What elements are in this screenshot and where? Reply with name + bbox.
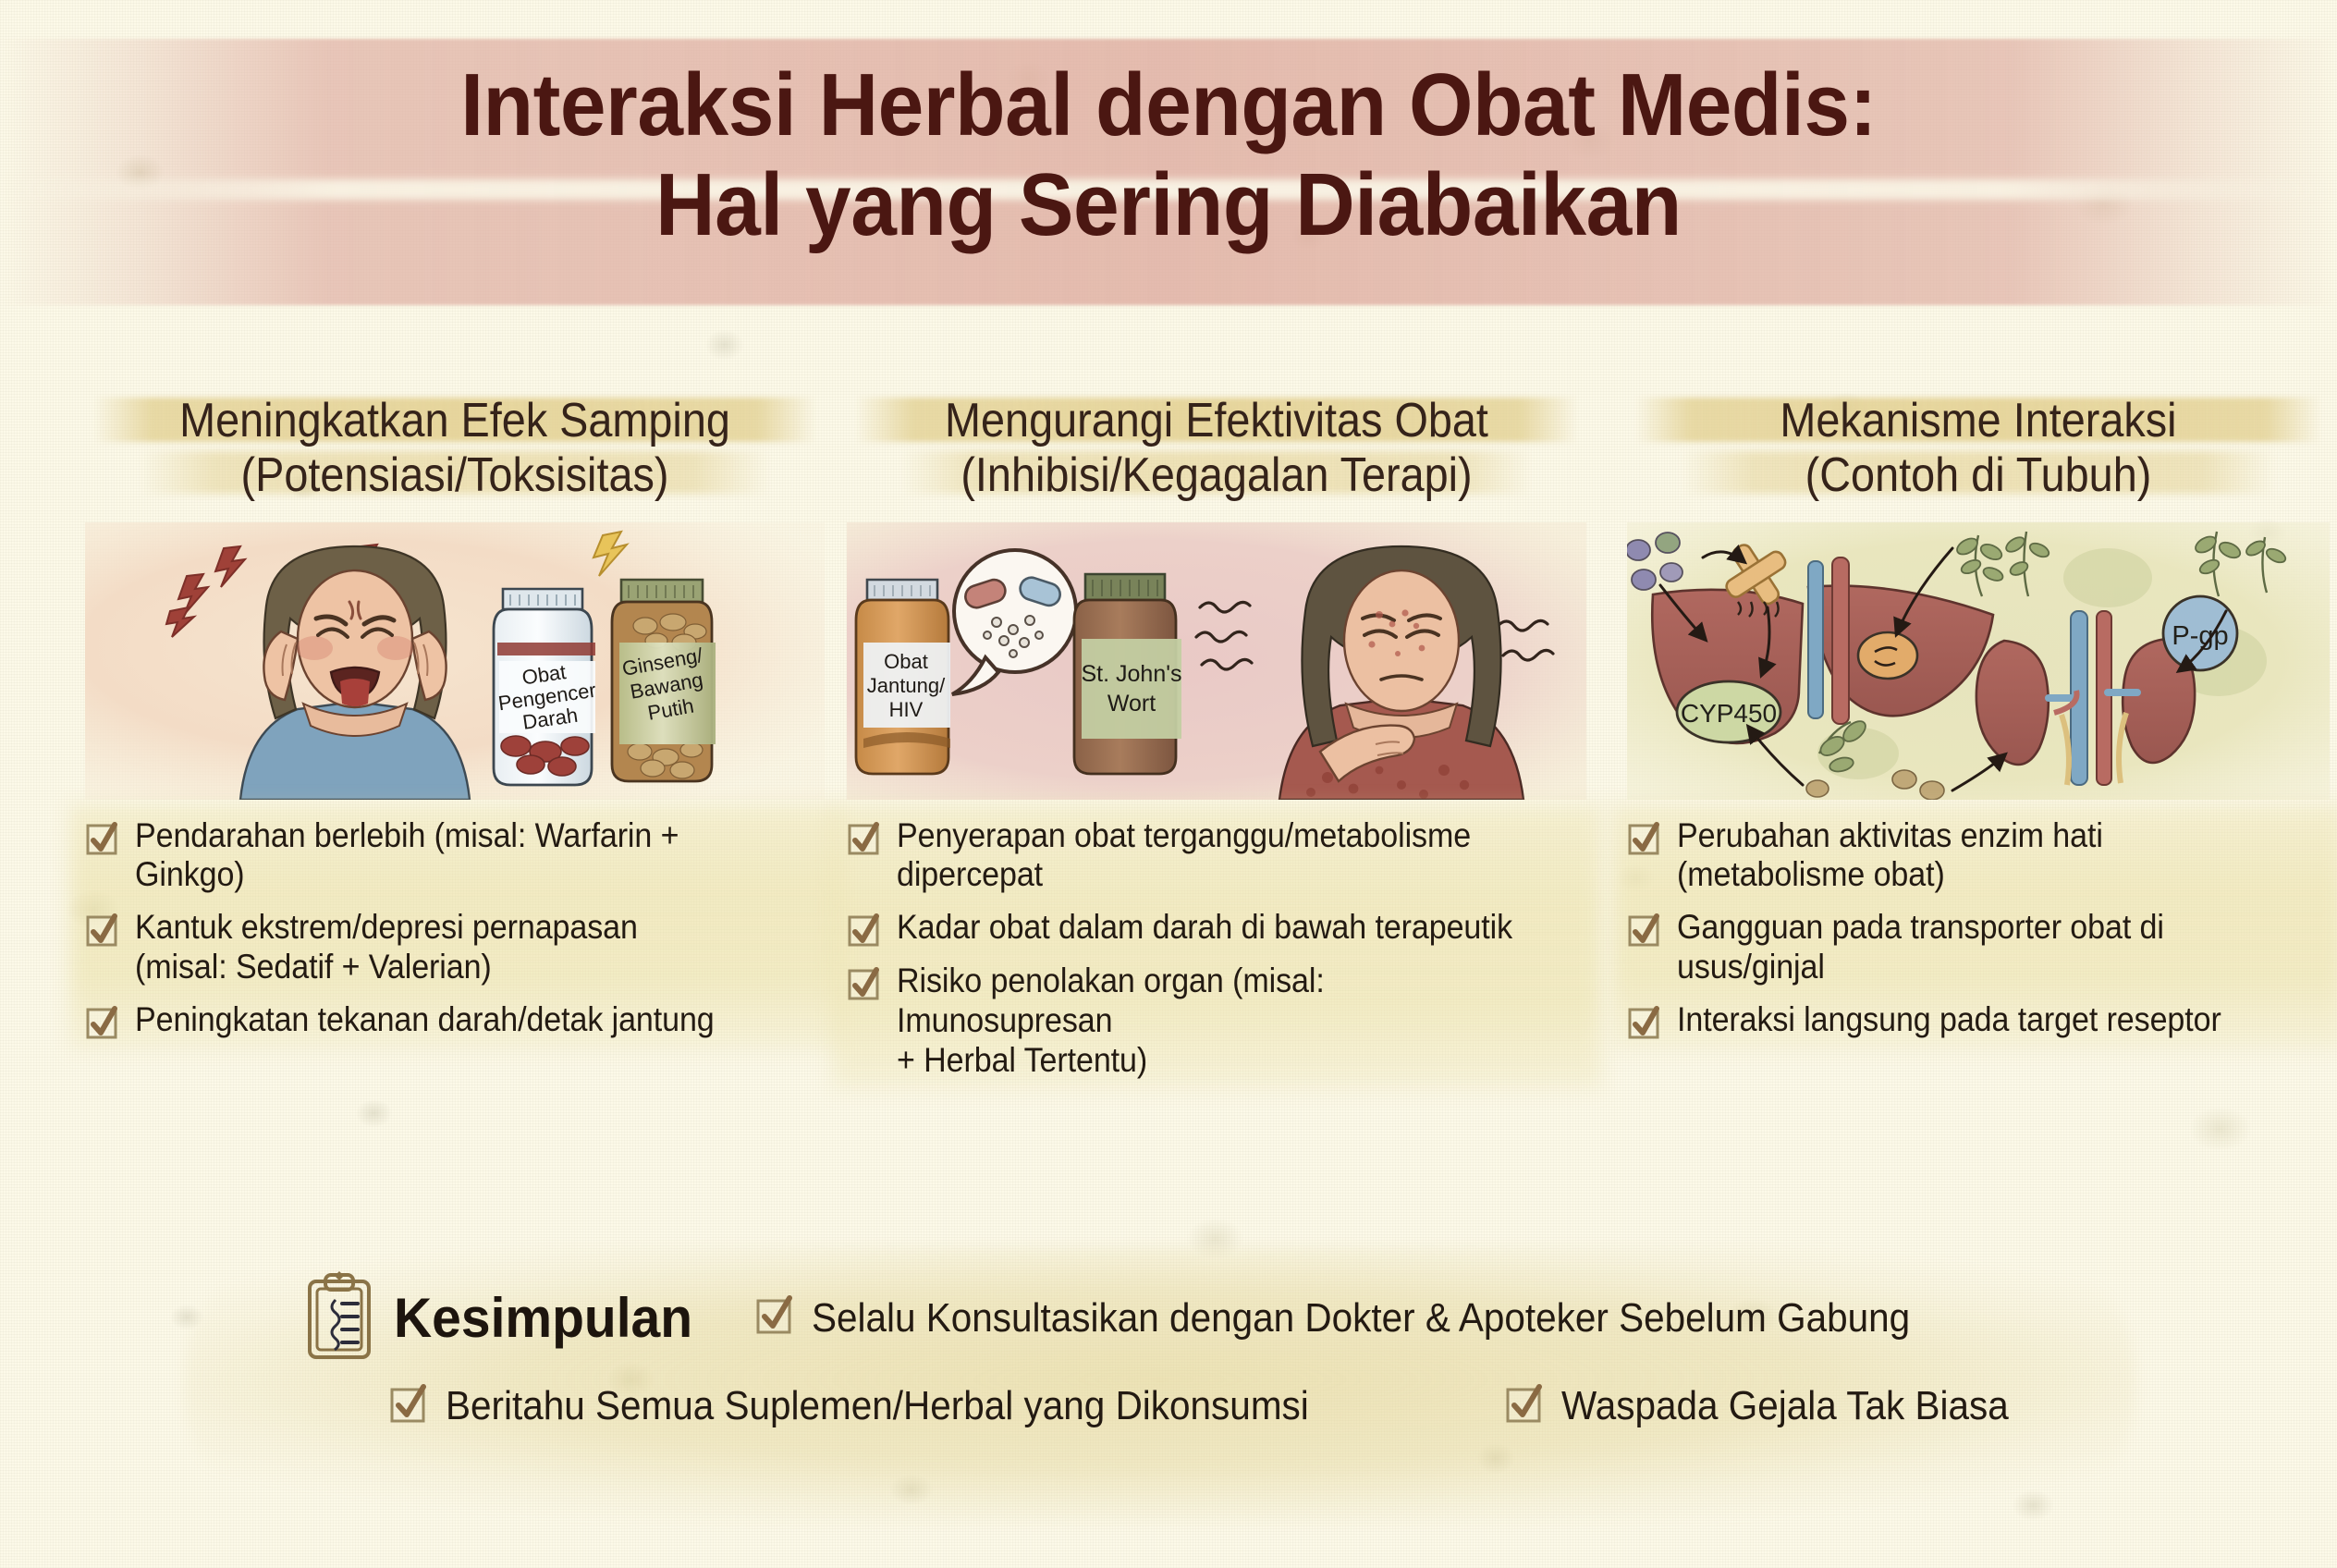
list-item: Interaksi langsung pada target reseptor (1627, 1000, 2330, 1041)
column-mechanisms: Mekanisme Interaksi (Contoh di Tubuh) (1627, 388, 2330, 1054)
conclusion-item-text: Selalu Konsultasikan dengan Dokter & Apo… (812, 1295, 1910, 1341)
checkbox-checked-icon (847, 913, 882, 949)
column-2-heading-line-1: Mengurangi Efektivitas Obat (892, 394, 1541, 448)
list-item: Kadar obat dalam darah di bawah terapeut… (847, 908, 1586, 949)
list-item-text: Penyerapan obat terganggu/metabolisme di… (897, 816, 1471, 896)
bottle3-label-line1: Obat (884, 650, 928, 673)
infographic-poster: Interaksi Herbal dengan Obat Medis: Hal … (0, 0, 2337, 1568)
checkbox-checked-icon (85, 913, 120, 949)
column-3-heading: Mekanisme Interaksi (Contoh di Tubuh) (1627, 388, 2330, 513)
title-line-2: Hal yang Sering Diabaikan (81, 155, 2255, 255)
checkbox-checked-icon (85, 1006, 120, 1041)
bottle3-label-line3: HIV (889, 698, 924, 721)
checkbox-checked-icon (85, 822, 120, 857)
checkbox-checked-icon (1627, 1006, 1662, 1041)
list-item-text: Kadar obat dalam darah di bawah terapeut… (897, 908, 1512, 948)
page-title: Interaksi Herbal dengan Obat Medis: Hal … (0, 55, 2337, 254)
conclusion-section: Kesimpulan Selalu Konsultasikan dengan D… (0, 1246, 2337, 1542)
cyp450-badge-label: CYP450 (1681, 699, 1777, 728)
bottle4-label-line1: St. John's (1082, 661, 1182, 687)
pgp-badge-label: P-gp (2172, 621, 2228, 651)
column-1-heading-line-2: (Potensiasi/Toksisitas) (130, 448, 779, 503)
list-item: Perubahan aktivitas enzim hati (metaboli… (1627, 816, 2330, 896)
checkbox-checked-icon (754, 1295, 795, 1341)
checkbox-checked-icon (388, 1384, 429, 1429)
column-3-heading-line-1: Mekanisme Interaksi (1670, 394, 2286, 448)
illustration-woman-rash: Obat Jantung/ HIV St. John's Wort (847, 522, 1586, 800)
bottle3-label-line2: Jantung/ (867, 674, 946, 697)
column-1-heading: Meningkatkan Efek Samping (Potensiasi/To… (85, 388, 825, 513)
conclusion-item: Waspada Gejala Tak Biasa (1504, 1383, 2048, 1429)
list-item: Gangguan pada transporter obat di usus/g… (1627, 908, 2330, 987)
conclusion-item-text: Waspada Gejala Tak Biasa (1561, 1383, 2009, 1429)
list-item: Penyerapan obat terganggu/metabolisme di… (847, 816, 1586, 896)
clipboard-icon (305, 1270, 373, 1366)
conclusion-item: Beritahu Semua Suplemen/Herbal yang Diko… (388, 1383, 1384, 1429)
column-side-effects: Meningkatkan Efek Samping (Potensiasi/To… (85, 388, 825, 1054)
list-item: Kantuk ekstrem/depresi pernapasan (misal… (85, 908, 825, 987)
list-item-text: Pendarahan berlebih (misal: Warfarin + G… (135, 816, 769, 896)
list-item: Risiko penolakan organ (misal: Imunosupr… (847, 962, 1586, 1081)
list-item-text: Peningkatan tekanan darah/detak jantung (135, 1000, 715, 1040)
conclusion-item-text: Beritahu Semua Suplemen/Herbal yang Diko… (446, 1383, 1309, 1429)
conclusion-row-2: Beritahu Semua Suplemen/Herbal yang Diko… (388, 1383, 2048, 1429)
column-2-bullets: Penyerapan obat terganggu/metabolisme di… (847, 811, 1586, 1082)
checkbox-checked-icon (847, 967, 882, 1002)
conclusion-row-1: Kesimpulan Selalu Konsultasikan dengan D… (305, 1270, 2006, 1366)
checkbox-checked-icon (1627, 913, 1662, 949)
column-3-heading-line-2: (Contoh di Tubuh) (1670, 448, 2286, 503)
column-1-bullets: Pendarahan berlebih (misal: Warfarin + G… (85, 811, 825, 1042)
column-2-heading-line-2: (Inhibisi/Kegagalan Terapi) (892, 448, 1541, 503)
conclusion-item: Selalu Konsultasikan dengan Dokter & Apo… (754, 1295, 2006, 1341)
list-item-text: Gangguan pada transporter obat di usus/g… (1677, 908, 2278, 987)
list-item-text: Perubahan aktivitas enzim hati (metaboli… (1677, 816, 2278, 896)
list-item: Peningkatan tekanan darah/detak jantung (85, 1000, 825, 1041)
checkbox-checked-icon (1504, 1384, 1545, 1429)
checkbox-checked-icon (1627, 822, 1662, 857)
list-item-text: Kantuk ekstrem/depresi pernapasan (misal… (135, 908, 638, 987)
bottle4-label-line2: Wort (1107, 691, 1156, 717)
column-2-heading: Mengurangi Efektivitas Obat (Inhibisi/Ke… (847, 388, 1586, 513)
list-item-text: Interaksi langsung pada target reseptor (1677, 1000, 2221, 1040)
column-1-heading-line-1: Meningkatkan Efek Samping (130, 394, 779, 448)
checkbox-checked-icon (847, 822, 882, 857)
column-3-bullets: Perubahan aktivitas enzim hati (metaboli… (1627, 811, 2330, 1042)
column-reduced-efficacy: Mengurangi Efektivitas Obat (Inhibisi/Ke… (847, 388, 1586, 1094)
list-item: Pendarahan berlebih (misal: Warfarin + G… (85, 816, 825, 896)
conclusion-title: Kesimpulan (394, 1286, 692, 1350)
list-item-text: Risiko penolakan organ (misal: Imunosupr… (897, 962, 1531, 1081)
title-line-1: Interaksi Herbal dengan Obat Medis: (81, 55, 2255, 155)
illustration-woman-headache: Obat Pengencer Darah (85, 522, 825, 800)
illustration-liver-kidney-mechanism: CYP450 P-gp (1627, 522, 2330, 800)
